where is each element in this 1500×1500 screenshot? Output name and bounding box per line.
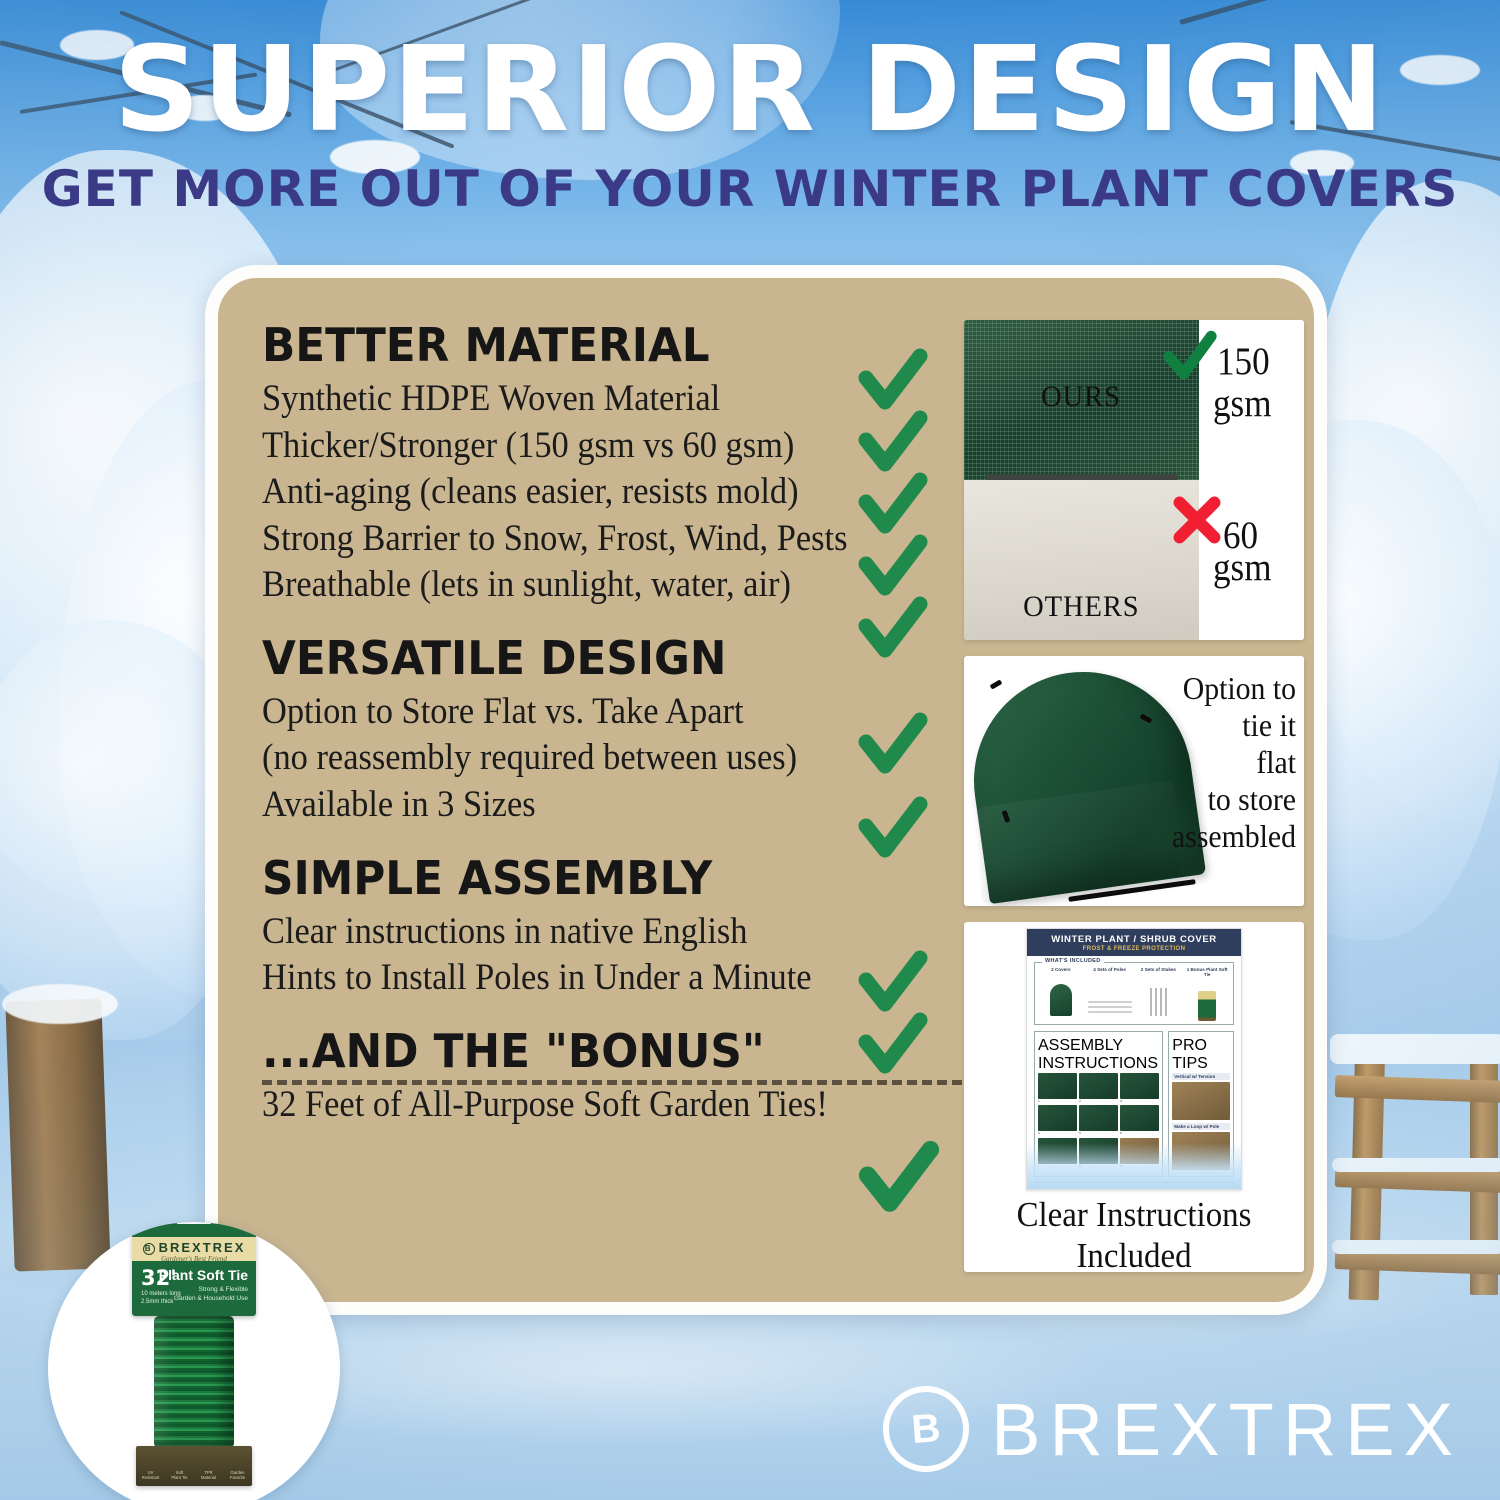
feature-line: Garden & Household Use	[174, 1294, 248, 1303]
caption-line: Option to	[1158, 670, 1296, 707]
bag-zip-tab	[990, 679, 1003, 689]
instruction-sheet: WINTER PLANT / SHRUB COVER FROST & FREEZ…	[1026, 928, 1242, 1190]
pro-tip-title: Make a Loop w/ Pole	[1172, 1123, 1230, 1130]
checkmark-column	[848, 278, 958, 1302]
green-check-icon	[856, 1138, 942, 1224]
store-flat-card: Option to tie it flat to store assembled	[964, 656, 1304, 906]
brand-mark-icon: B	[880, 1383, 972, 1475]
whats-included-label: WHAT'S INCLUDED	[1042, 958, 1104, 964]
footer-feature-line: Favorite	[223, 1475, 252, 1480]
feature-section-simple-assembly: SIMPLE ASSEMBLY Clear instructions in na…	[262, 855, 848, 1002]
green-check-icon	[856, 794, 930, 868]
brand-mark-icon: B	[143, 1243, 155, 1255]
caption-line: to store	[1158, 781, 1296, 818]
feature-section-better-material: BETTER MATERIAL Synthetic HDPE Woven Mat…	[262, 322, 848, 609]
package-features: Strong & Flexible Garden & Household Use	[174, 1285, 248, 1303]
section-heading: ...AND THE "BONUS"	[262, 1028, 819, 1075]
assembly-step: 6	[1120, 1105, 1159, 1135]
assembly-step: 2	[1079, 1073, 1118, 1103]
header: SUPERIOR DESIGN GET MORE OUT OF YOUR WIN…	[0, 30, 1500, 214]
caption-line: Clear Instructions	[974, 1194, 1294, 1235]
gsm-values-column: 150 gsm 60 gsm	[1199, 320, 1304, 640]
checkmark-group-bonus	[856, 1138, 952, 1212]
stakes-icon	[1136, 974, 1182, 1016]
instructions-caption: Clear Instructions Included	[974, 1194, 1294, 1272]
instructions-card: WINTER PLANT / SHRUB COVER FROST & FREEZ…	[964, 922, 1304, 1272]
sheet-title: WINTER PLANT / SHRUB COVER	[1027, 934, 1241, 945]
page-title: SUPERIOR DESIGN	[0, 30, 1500, 148]
ours-gsm-unit: gsm	[1213, 384, 1295, 425]
green-check-icon	[856, 594, 930, 668]
included-item-label: 2 Sets of Stakes	[1136, 967, 1182, 972]
features-text-column: BETTER MATERIAL Synthetic HDPE Woven Mat…	[218, 278, 848, 1302]
sheet-icy-overlay	[1027, 1143, 1241, 1189]
caption-line: Included	[974, 1235, 1294, 1272]
others-gsm-row: 60 gsm	[1199, 496, 1304, 589]
pro-tip-title: Vertical w/ Tension	[1172, 1073, 1230, 1080]
others-label: OTHERS	[1023, 590, 1140, 624]
checkmark-group-simple-assembly	[856, 948, 952, 1072]
others-gsm-unit: gsm	[1213, 548, 1295, 589]
footer-feature: Soft Plant Tie	[165, 1470, 194, 1481]
section-line: 32 Feet of All-Purpose Soft Garden Ties!	[262, 1082, 807, 1129]
soft-tie-icon	[1184, 979, 1230, 1021]
footer-feature: UV Resistant	[136, 1470, 165, 1481]
caption-line: flat	[1158, 744, 1296, 781]
assembly-step: 3	[1120, 1073, 1159, 1103]
included-item-label: 4 Sets of Poles	[1087, 967, 1133, 972]
checkmark-group-better-material	[856, 346, 952, 656]
poles-icon	[1087, 974, 1133, 1016]
feature-section-bonus: ...AND THE "BONUS" 32 Feet of All-Purpos…	[262, 1028, 848, 1129]
features-panel: BETTER MATERIAL Synthetic HDPE Woven Mat…	[205, 265, 1327, 1315]
others-fabric-photo: OTHERS	[964, 480, 1199, 640]
section-heading: SIMPLE ASSEMBLY	[262, 855, 819, 902]
section-line: Breathable (lets in sunlight, water, air…	[262, 562, 807, 609]
included-item: 4 Sets of Poles	[1087, 967, 1133, 1021]
red-cross-icon	[1169, 492, 1225, 553]
green-check-icon	[856, 710, 930, 784]
section-line: Available in 3 Sizes	[262, 782, 807, 829]
footer-feature-line: Plant Tie	[165, 1475, 194, 1480]
assembly-step: 5	[1079, 1105, 1118, 1135]
sheet-subtitle: FROST & FREEZE PROTECTION	[1027, 946, 1241, 952]
package-tagline: Gardener's Best Friend	[132, 1255, 256, 1263]
footer-feature-line: Material	[194, 1475, 223, 1480]
package-footer-strip: UV Resistant Soft Plant Tie TPR Material…	[136, 1446, 252, 1486]
store-flat-caption: Option to tie it flat to store assembled	[1158, 670, 1296, 856]
section-line: Option to Store Flat vs. Take Apart	[262, 689, 807, 736]
feature-line: Strong & Flexible	[174, 1285, 248, 1294]
green-tie-coil	[154, 1316, 234, 1448]
ours-label: OURS	[1042, 380, 1122, 414]
included-item: 2 Covers	[1038, 967, 1084, 1021]
product-images-column: OURS OTHERS 150 gsm	[958, 278, 1313, 1302]
section-line: Clear instructions in native English	[262, 909, 807, 956]
cover-icon	[1038, 974, 1084, 1016]
section-line: Thicker/Stronger (150 gsm vs 60 gsm)	[262, 423, 807, 470]
material-comparison-card: OURS OTHERS 150 gsm	[964, 320, 1304, 640]
package-header-card: BBREXTREX Gardener's Best Friend 32' 10 …	[132, 1224, 256, 1316]
section-line: Synthetic HDPE Woven Material	[262, 376, 807, 423]
included-item-label: 2 Covers	[1038, 967, 1084, 972]
assembly-instructions-label: ASSEMBLY INSTRUCTIONS	[1038, 1037, 1158, 1072]
package-brand-text: BREXTREX	[159, 1240, 246, 1255]
included-item-label: 1 Bonus Plant Soft Tie	[1184, 967, 1230, 977]
pro-tips-label: PRO TIPS	[1172, 1037, 1208, 1072]
section-line: Strong Barrier to Snow, Frost, Wind, Pes…	[262, 516, 807, 563]
ours-gsm-number: 150	[1217, 342, 1270, 381]
assembly-step: 4	[1038, 1105, 1077, 1135]
page-subtitle: GET MORE OUT OF YOUR WINTER PLANT COVERS	[0, 164, 1500, 214]
brand-name: BREXTREX	[991, 1387, 1462, 1472]
footer-feature: TPR Material	[194, 1470, 223, 1481]
bonus-product-circle: BBREXTREX Gardener's Best Friend 32' 10 …	[48, 1222, 340, 1500]
soft-tie-package: BBREXTREX Gardener's Best Friend 32' 10 …	[124, 1222, 264, 1500]
pro-tip: Vertical w/ Tension	[1172, 1073, 1230, 1120]
footer-feature: Garden Favorite	[223, 1470, 252, 1481]
whats-included-box: WHAT'S INCLUDED 2 Covers 4 Sets of Poles…	[1034, 962, 1234, 1025]
section-line: (no reassembly required between uses)	[262, 735, 807, 782]
included-item: 1 Bonus Plant Soft Tie	[1184, 967, 1230, 1021]
caption-line: assembled	[1158, 818, 1296, 855]
package-product-name: Plant Soft Tie	[159, 1268, 248, 1282]
assembly-step: 1	[1038, 1073, 1077, 1103]
package-brand: BBREXTREX	[132, 1240, 256, 1255]
sheet-header: WINTER PLANT / SHRUB COVER FROST & FREEZ…	[1027, 929, 1241, 956]
caption-line: tie it	[1158, 707, 1296, 744]
checkmark-group-versatile-design	[856, 710, 952, 856]
ours-gsm-row: 150 gsm	[1199, 338, 1304, 425]
footer-feature-line: Resistant	[136, 1475, 165, 1480]
brand-logo: B BREXTREX	[883, 1386, 1462, 1472]
green-check-icon	[856, 1010, 930, 1084]
section-line: Anti-aging (cleans easier, resists mold)	[262, 469, 807, 516]
section-heading: BETTER MATERIAL	[262, 322, 819, 369]
feature-section-versatile-design: VERSATILE DESIGN Option to Store Flat vs…	[262, 635, 848, 829]
section-heading: VERSATILE DESIGN	[262, 635, 819, 682]
green-check-icon	[1161, 330, 1219, 393]
section-line: Hints to Install Poles in Under a Minute	[262, 955, 807, 1002]
included-item: 2 Sets of Stakes	[1136, 967, 1182, 1021]
